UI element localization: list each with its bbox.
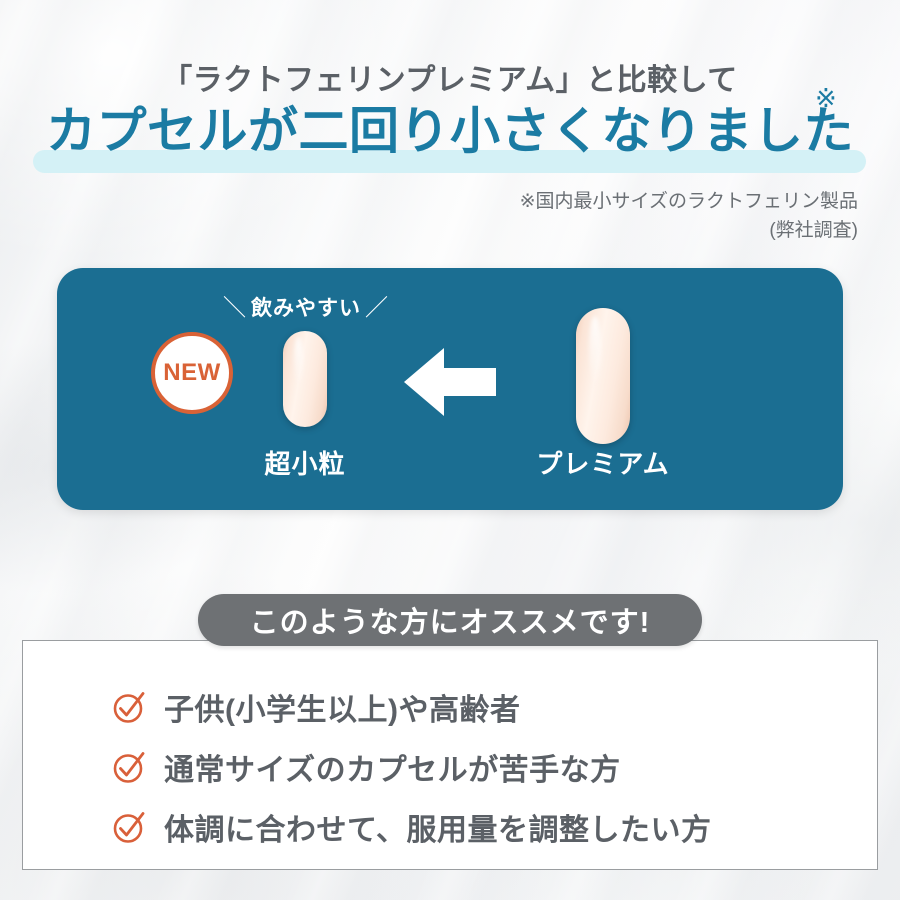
footnote: ※国内最小サイズのラクトフェリン製品 (弊社調査): [0, 188, 858, 245]
page-title: カプセルが二回り小さくなりました: [40, 103, 860, 161]
subheadline: 「ラクトフェリンプレミアム」と比較して: [0, 55, 900, 99]
new-badge: NEW: [151, 332, 233, 414]
small-capsule-image: [283, 331, 327, 427]
recommendation-banner-label: このような方にオススメです!: [250, 599, 651, 641]
small-capsule-label: 超小粒: [205, 444, 405, 481]
recommendation-banner: このような方にオススメです!: [198, 594, 702, 646]
new-badge-label: NEW: [163, 359, 221, 387]
footnote-line-1: ※国内最小サイズのラクトフェリン製品: [0, 188, 858, 217]
circle-check-icon: [112, 690, 146, 724]
asterisk-reference-icon: ※: [815, 83, 837, 114]
large-capsule-image: [576, 308, 630, 444]
list-item: 子供(小学生以上)や高齢者: [112, 678, 852, 735]
list-item: 通常サイズのカプセルが苦手な方: [112, 738, 852, 795]
slash-right-icon: ／: [361, 294, 393, 320]
list-item-label: 子供(小学生以上)や高齢者: [164, 685, 520, 729]
headline-wrapper: カプセルが二回り小さくなりました: [0, 103, 900, 161]
large-capsule-label: プレミアム: [503, 444, 703, 481]
circle-check-icon: [112, 810, 146, 844]
list-item-label: 通常サイズのカプセルが苦手な方: [164, 745, 621, 789]
circle-check-icon: [112, 750, 146, 784]
ad-page: 「ラクトフェリンプレミアム」と比較して カプセルが二回り小さくなりました ※ ※…: [0, 0, 900, 900]
list-item: 体調に合わせて、服用量を調整したい方: [112, 798, 852, 855]
easy-to-swallow-tagline: ＼飲みやすい／: [196, 288, 416, 322]
arrow-left-icon: [404, 345, 496, 419]
footnote-line-2: (弊社調査): [0, 217, 858, 246]
list-item-label: 体調に合わせて、服用量を調整したい方: [164, 805, 712, 849]
tagline-text: 飲みやすい: [251, 297, 361, 320]
recommendation-list: 子供(小学生以上)や高齢者 通常サイズのカプセルが苦手な方: [112, 678, 852, 858]
slash-left-icon: ＼: [219, 294, 251, 320]
